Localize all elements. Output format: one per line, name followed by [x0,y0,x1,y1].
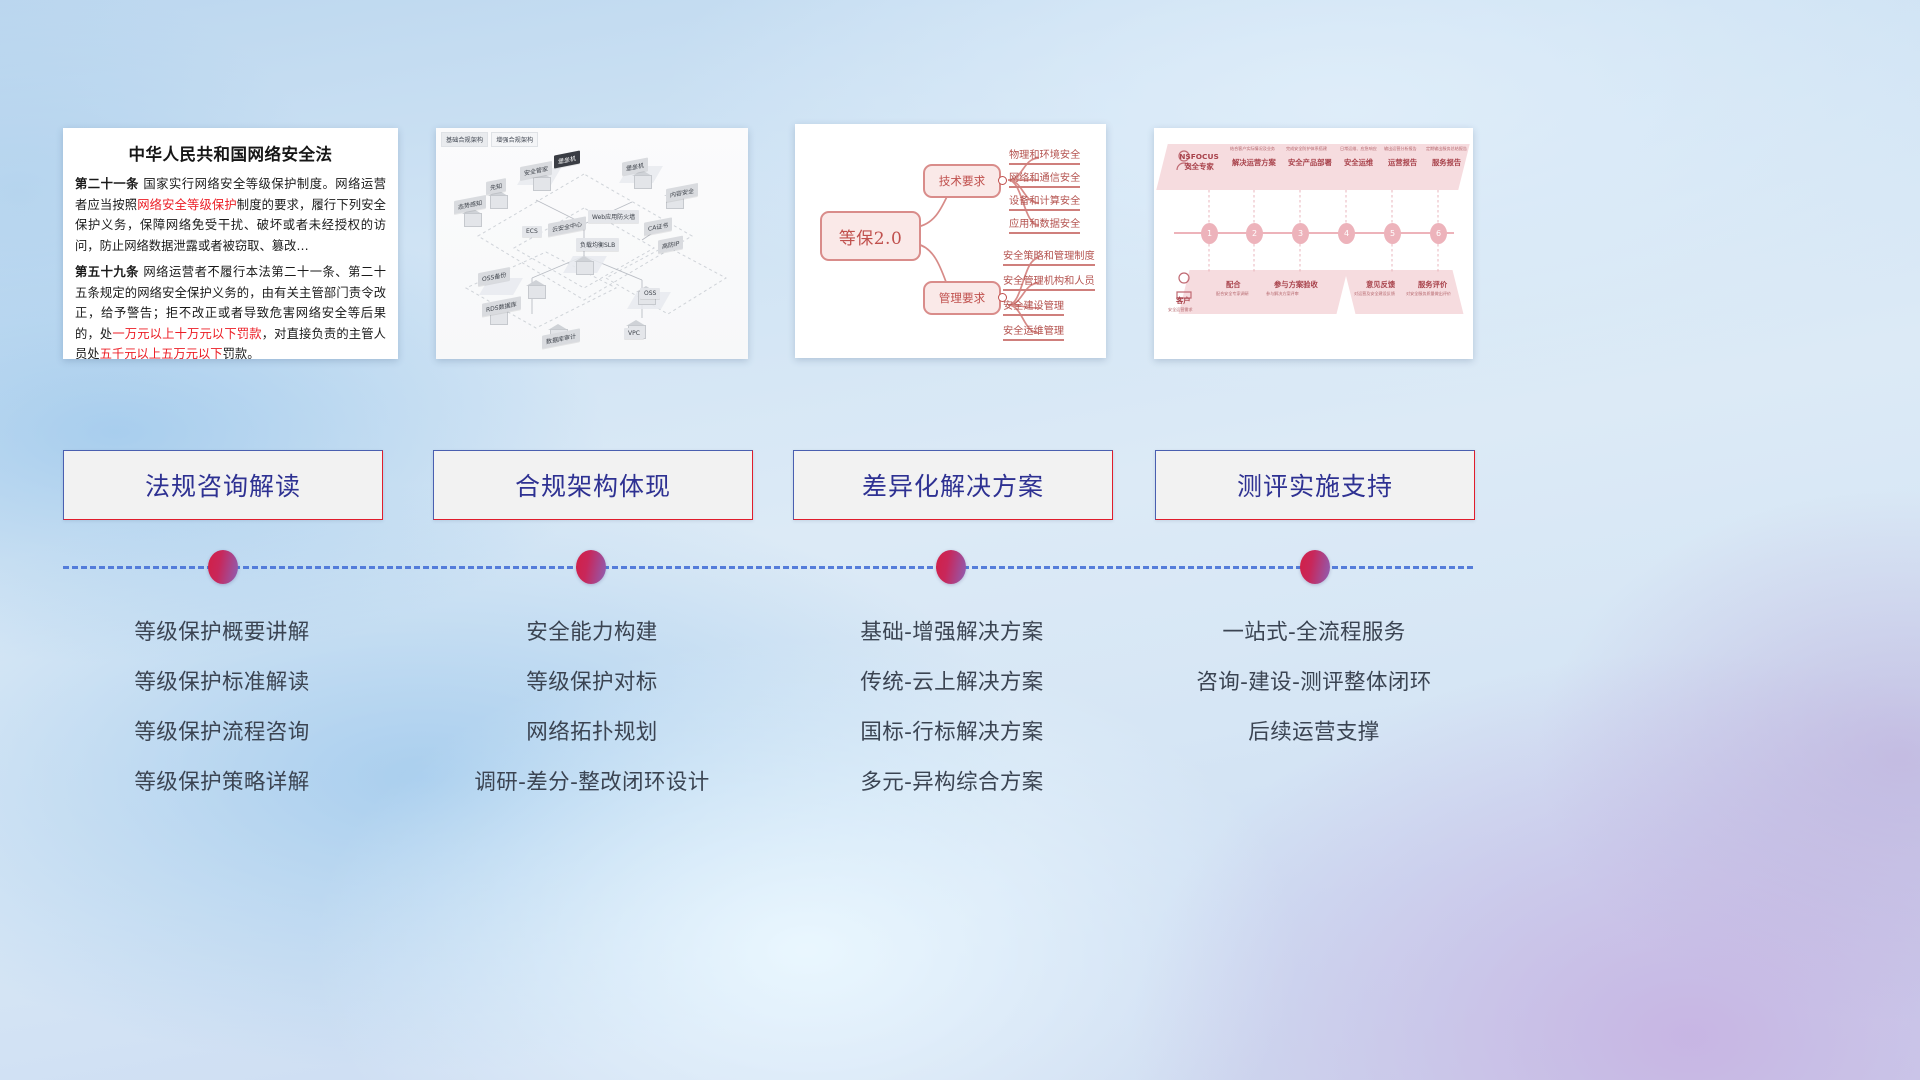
mindmap-diagram: 等保2.0 技术要求 管理要求 物理和环境安全 网络和通信安全 设备和计算安全 … [795,124,1106,358]
law-article-label-2: 第五十九条 [75,265,139,279]
banner-label-1: 合规架构体现 [515,467,671,503]
banner-regulation-consulting[interactable]: 法规咨询解读 [63,450,383,520]
roadmap-top-title-3: 运营报告 [1388,158,1417,168]
timeline-dot-1[interactable] [208,550,238,584]
roadmap-top-title-1: 安全产品部署 [1288,158,1332,168]
roadmap-step-4[interactable]: 4 [1338,223,1355,244]
arch-node-label-14: OSS [640,288,660,299]
roadmap-top-title-4: 服务报告 [1432,158,1461,168]
mindmap-collapse-icon-technical[interactable] [998,176,1007,185]
roadmap-bottom-sub-3: 对运营及安全建设反馈 [1354,291,1395,297]
roadmap-bottom-title-4: 服务评价 [1418,280,1447,290]
arch-node-label-15: VPC [624,328,644,339]
list-item: 一站式-全流程服务 [1155,608,1473,658]
roadmap-step-5[interactable]: 5 [1384,223,1401,244]
roadmap-top-sub-2: 日常运维、应急响应 [1340,146,1377,152]
thumbnail-mindmap-card[interactable]: 等保2.0 技术要求 管理要求 物理和环境安全 网络和通信安全 设备和计算安全 … [795,124,1106,358]
list-item: 等级保护流程咨询 [63,708,381,758]
mindmap-leaf-t0: 物理和环境安全 [1009,146,1080,165]
thumbnail-architecture-card[interactable]: 基础合规架构 增强合规架构 [436,128,748,359]
law-seg-2-3: 五千元以上五万元以下 [100,347,223,359]
roadmap-bottom-sub-0: 安全运营需求 [1168,307,1193,313]
list-item: 传统-云上解决方案 [793,658,1111,708]
roadmap-brand: NSFOCUS 安全专家 [1172,152,1226,172]
timeline-dashed-line [63,566,1473,569]
arch-server-icon-6 [574,256,594,276]
law-card-paragraph-1: 第二十一条 国家实行网络安全等级保护制度。网络运营者应当按照网络安全等级保护制度… [75,174,386,256]
column-differentiated-solutions: 基础-增强解决方案 传统-云上解决方案 国标-行标解决方案 多元-异构综合方案 [793,608,1111,808]
mindmap-leaf-t3: 应用和数据安全 [1009,215,1080,234]
timeline-dot-2[interactable] [576,550,606,584]
roadmap-brand-line1: NSFOCUS [1172,152,1226,162]
roadmap-step-3[interactable]: 3 [1292,223,1309,244]
column-compliance-architecture: 安全能力构建 等级保护对标 网络拓扑规划 调研-差分-整改闭环设计 [433,608,751,808]
arch-node-label-7: 负载均衡SLB [576,238,619,251]
banner-differentiated-solutions[interactable]: 差异化解决方案 [793,450,1113,520]
mindmap-leaf-t1: 网络和通信安全 [1009,169,1080,188]
law-article-label-1: 第二十一条 [75,177,139,191]
roadmap-bottom-sub-2: 参与解决方案评审 [1266,291,1299,297]
law-seg-2-4: 罚款。 [223,347,260,359]
column-assessment-support: 一站式-全流程服务 咨询-建设-测评整体闭环 后续运营支撑 [1155,608,1473,758]
list-item: 安全能力构建 [433,608,751,658]
law-seg-2-1: 一万元以上十万元以下罚款 [112,327,261,341]
law-card-paragraph-2: 第五十九条 网络运营者不履行本法第二十一条、第二十五条规定的网络安全保护义务的，… [75,262,386,359]
list-item: 后续运营支撑 [1155,708,1473,758]
mindmap-leaf-m3: 安全运维管理 [1003,322,1064,341]
list-item: 等级保护策略详解 [63,758,381,808]
roadmap-bottom-sub-1: 配合安全专家调研 [1216,291,1249,297]
banner-assessment-support[interactable]: 测评实施支持 [1155,450,1475,520]
banner-label-0: 法规咨询解读 [145,467,301,503]
roadmap-top-title-2: 安全运维 [1344,158,1373,168]
thumbnail-law-card[interactable]: 中华人民共和国网络安全法 第二十一条 国家实行网络安全等级保护制度。网络运营者应… [63,128,398,359]
list-item: 网络拓扑规划 [433,708,751,758]
arch-node-label-6: Web应用防火墙 [588,210,639,223]
arch-server-icon-7 [526,280,546,300]
list-item: 等级保护概要讲解 [63,608,381,658]
slide-stage: 中华人民共和国网络安全法 第二十一条 国家实行网络安全等级保护制度。网络运营者应… [0,0,1920,1080]
roadmap-bottom-title-3: 意见反馈 [1366,280,1395,290]
mindmap-leaf-m0: 安全策略和管理制度 [1003,247,1095,266]
list-item: 调研-差分-整改闭环设计 [433,758,751,808]
mindmap-root-node[interactable]: 等保2.0 [820,211,921,261]
mindmap-leaf-m1: 安全管理机构和人员 [1003,272,1095,291]
roadmap-brand-line2: 安全专家 [1172,162,1226,172]
roadmap-bottom-title-1: 配合 [1226,280,1241,290]
roadmap-bottom-sub-4: 对安全服务质量做出评价 [1406,291,1451,297]
list-item: 国标-行标解决方案 [793,708,1111,758]
roadmap-diagram: NSFOCUS 安全专家 解决运营方案 结合客户实际情况及业务 安全产品部署 完… [1154,128,1473,359]
law-card-title: 中华人民共和国网络安全法 [63,141,398,165]
list-item: 基础-增强解决方案 [793,608,1111,658]
banner-compliance-architecture[interactable]: 合规架构体现 [433,450,753,520]
roadmap-step-1[interactable]: 1 [1201,223,1218,244]
list-item: 等级保护对标 [433,658,751,708]
mindmap-leaf-t2: 设备和计算安全 [1009,192,1080,211]
roadmap-step-2[interactable]: 2 [1246,223,1263,244]
roadmap-bottom-title-2: 参与方案验收 [1274,280,1318,290]
banner-label-3: 测评实施支持 [1237,467,1393,503]
roadmap-top-sub-1: 完成安全防护体系搭建 [1286,146,1327,152]
banner-label-2: 差异化解决方案 [862,467,1044,503]
roadmap-top-title-0: 解决运营方案 [1232,158,1276,168]
roadmap-top-sub-3: 输出运营分析报告 [1384,146,1417,152]
mindmap-leaf-m2: 安全建设管理 [1003,297,1064,316]
arch-node-label-8: ECS [522,226,542,237]
list-item: 等级保护标准解读 [63,658,381,708]
thumbnail-roadmap-card[interactable]: NSFOCUS 安全专家 解决运营方案 结合客户实际情况及业务 安全产品部署 完… [1154,128,1473,359]
timeline-dot-3[interactable] [936,550,966,584]
list-item: 咨询-建设-测评整体闭环 [1155,658,1473,708]
roadmap-bottom-title-0: 客户 [1176,296,1191,306]
architecture-diagram: 基础合规架构 增强合规架构 [436,128,748,359]
roadmap-top-sub-4: 定期输出服务总结报告 [1426,146,1467,152]
law-seg-1-1: 网络安全等级保护 [137,198,237,212]
roadmap-step-6[interactable]: 6 [1430,223,1447,244]
timeline-dot-4[interactable] [1300,550,1330,584]
mindmap-branch-technical[interactable]: 技术要求 [923,164,1001,198]
roadmap-top-sub-0: 结合客户实际情况及业务 [1230,146,1275,152]
column-regulation-consulting: 等级保护概要讲解 等级保护标准解读 等级保护流程咨询 等级保护策略详解 [63,608,381,808]
list-item: 多元-异构综合方案 [793,758,1111,808]
mindmap-branch-management[interactable]: 管理要求 [923,281,1001,315]
